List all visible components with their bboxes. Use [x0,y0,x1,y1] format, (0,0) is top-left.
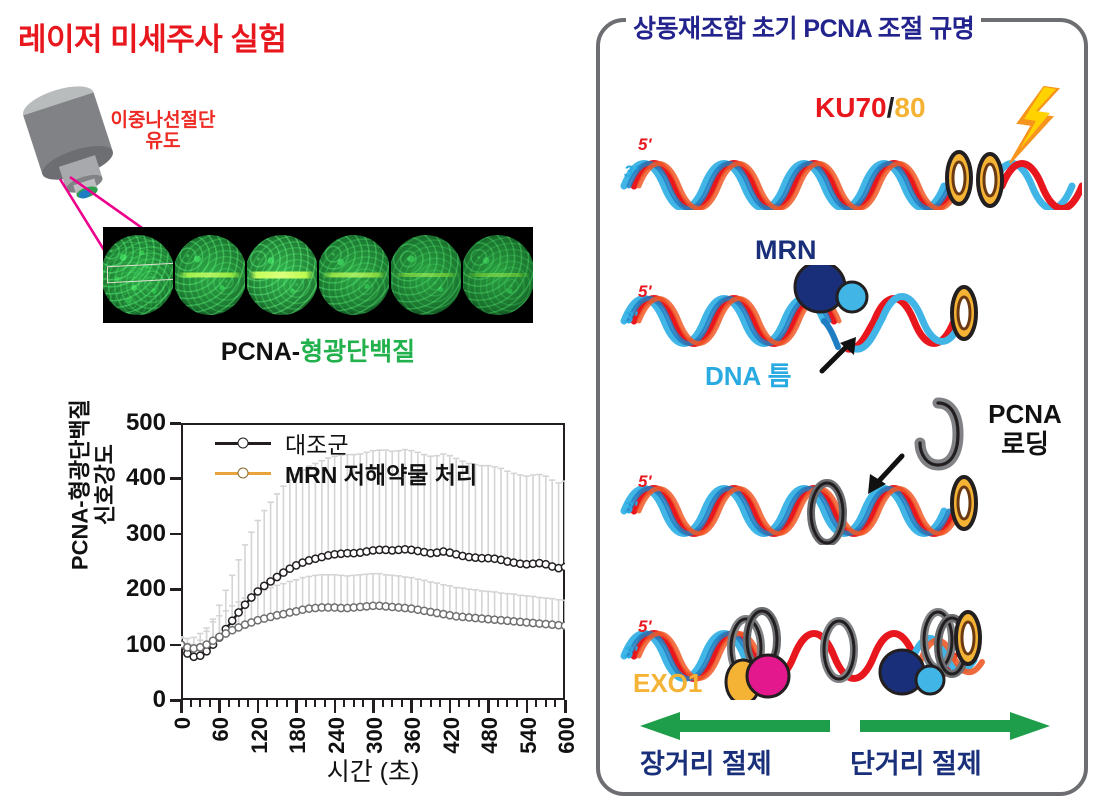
pcna-loading-line2: 로딩 [1001,429,1049,459]
laser-stripe [465,273,530,277]
micrograph-panel: 30분 [463,227,533,323]
pcna-loading-label: PCNA 로딩 [965,400,1085,460]
series-marker [561,622,565,629]
x-axis-tick-mark [180,700,183,713]
x-axis-tick-label: 60 [208,717,234,741]
y-axis-title: PCNA-형광단백질 신호강도 [68,365,117,605]
series-marker [241,601,248,608]
y-axis-tick-mark [170,644,181,647]
x-axis-minor-tick [506,700,508,707]
x-axis-tick-mark [526,700,529,713]
y-axis-tick-mark [170,477,181,480]
legend-item-control: 대조군 [215,431,477,455]
y-axis-title-line1: PCNA-형광단백질 [67,399,92,570]
x-axis-minor-tick [554,700,556,707]
series-marker [229,617,236,624]
exo1-label: EXO1 [633,668,702,699]
x-axis-title: 시간 (초) [181,752,565,788]
nucleus-image [391,235,461,315]
series-marker [254,588,261,595]
x-axis-tick-mark [295,700,298,713]
three-prime-label-mrn: 3' [624,308,638,328]
x-axis-minor-tick [382,700,384,707]
x-axis-minor-tick [401,700,403,707]
x-axis-minor-tick [362,700,364,707]
green-arrow-left-icon [640,710,830,742]
x-axis-tick-mark [257,700,260,713]
x-axis-tick-label: 600 [554,717,580,754]
five-prime-label-ku: 5' [638,135,652,155]
x-axis-minor-tick [478,700,480,707]
legend-label-mrn: MRN 저해약물 처리 [285,456,477,490]
x-axis-tick-label: 240 [324,717,350,754]
nucleus-image [463,235,533,315]
y-axis-tick-mark [170,422,181,425]
y-axis-tick-mark [170,533,181,536]
ku-ring-icon [978,154,1002,206]
chart-legend: 대조군 MRN 저해약물 처리 [215,431,477,491]
x-axis-minor-tick [391,700,393,707]
five-prime-label-pcna: 5' [638,472,652,492]
laser-roi-rectangle [107,263,173,284]
x-axis-tick-label: 540 [516,717,542,754]
x-axis-minor-tick [190,700,192,707]
x-axis-minor-tick [305,700,307,707]
ku80-text: 80 [894,92,925,123]
x-axis-minor-tick [324,700,326,707]
nucleus-image [175,235,245,315]
legend-label-control: 대조군 [285,426,348,460]
legend-swatch-control [215,442,271,445]
x-axis-minor-tick [228,700,230,707]
x-axis-minor-tick [353,700,355,707]
ku-ring-icon [947,152,971,204]
x-axis-tick-mark [372,700,375,713]
x-axis-tick-label: 180 [285,717,311,754]
x-axis-minor-tick [516,700,518,707]
three-prime-label-resection: 3' [624,643,638,663]
x-axis-tick-mark [487,700,490,713]
series-marker [248,594,255,601]
x-axis-minor-tick [497,700,499,707]
x-axis-tick-label: 360 [400,717,426,754]
x-axis-minor-tick [430,700,432,707]
laser-stripe [249,272,314,279]
x-axis-minor-tick [266,700,268,707]
ku70-text: KU70 [815,92,887,123]
x-axis-tick-mark [334,700,337,713]
arrow-down-left-icon [860,452,908,498]
x-axis-tick-label: 120 [247,717,273,754]
x-axis-minor-tick [209,700,211,707]
left-section-title: 레이저 미세주사 실험 [18,14,286,59]
five-prime-label-resection: 5' [638,617,652,637]
x-axis-tick-label: 0 [170,717,196,729]
green-arrow-right-icon [860,710,1050,742]
laser-stripe [177,273,242,278]
x-axis-tick-mark [564,700,567,713]
caption-prefix: PCNA- [221,338,300,366]
ku70-80-label: KU70/80 [815,92,926,124]
ku-ring-icon [952,477,976,529]
three-prime-label-ku: 3' [624,162,638,182]
legend-marker [238,468,249,479]
three-prime-label-pcna: 3' [624,498,638,518]
laser-stripe [321,273,386,278]
pcna-clamp-free-icon [904,395,964,473]
nucleus-image [247,235,317,315]
exo1-blob-icon [726,655,789,700]
pcna-loading-line1: PCNA [988,399,1062,429]
short-resection-label: 단거리 절제 [850,742,982,781]
caption-highlight: 형광단백질 [300,338,415,366]
legend-marker [238,438,249,449]
long-resection-label: 장거리 절제 [640,742,772,781]
y-axis-tick-label: 100 [106,631,166,659]
ku-ring-icon [956,612,980,664]
y-axis-title-line2: 신호강도 [92,444,117,525]
y-axis-tick-mark [170,588,181,591]
x-axis-minor-tick [314,700,316,707]
x-axis-minor-tick [458,700,460,707]
x-axis-minor-tick [199,700,201,707]
legend-label-mrn-text: MRN 저해약물 처리 [285,462,477,488]
x-axis-tick-mark [218,700,221,713]
x-axis-minor-tick [420,700,422,707]
x-axis-minor-tick [247,700,249,707]
ku-ring-icon [952,287,976,339]
nucleus-image [319,235,389,315]
x-axis-minor-tick [286,700,288,707]
stage-pcna-diagram [612,455,1082,545]
micrograph-panel: 4분 [247,227,317,323]
legend-item-mrn: MRN 저해약물 처리 [215,461,477,485]
micrograph-panel: 2분 [175,227,245,323]
x-axis-tick-label: 480 [477,717,503,754]
x-axis-minor-tick [535,700,537,707]
mrn-label: MRN [755,235,817,266]
laser-stripe [393,273,458,277]
x-axis-minor-tick [343,700,345,707]
legend-swatch-mrn [215,472,271,475]
x-axis-tick-mark [449,700,452,713]
arrow-up-right-icon [818,333,864,375]
mechanism-panel-title: 상동재조합 초기 PCNA 조절 규명 [626,9,981,45]
y-axis-tick-label: 0 [106,686,166,714]
micrograph-strip: 2분 4분 10분 20분 30분 [103,227,533,323]
x-axis-minor-tick [276,700,278,707]
lightning-bolt-icon [1000,85,1062,165]
series-marker [235,609,242,616]
x-axis-minor-tick [468,700,470,707]
x-axis-minor-tick [238,700,240,707]
x-axis-tick-mark [410,700,413,713]
series-marker [561,563,565,570]
mrn-complex-icon [880,650,944,694]
intensity-chart: 0100200300400500 06012018024030036042048… [40,400,585,800]
micrograph-panel [103,227,173,323]
five-prime-label-mrn: 5' [638,282,652,302]
mrn-complex-icon [795,265,867,312]
micrograph-panel: 20분 [391,227,461,323]
x-axis-minor-tick [439,700,441,707]
dna-gap-label: DNA 틈 [705,356,792,393]
micrograph-caption: PCNA-형광단백질 [103,332,533,368]
laser-induction-label: 이중나선절단유도 [103,110,223,153]
x-axis-tick-label: 300 [362,717,388,754]
x-axis-tick-label: 420 [439,717,465,754]
x-axis-minor-tick [545,700,547,707]
micrograph-panel: 10분 [319,227,389,323]
